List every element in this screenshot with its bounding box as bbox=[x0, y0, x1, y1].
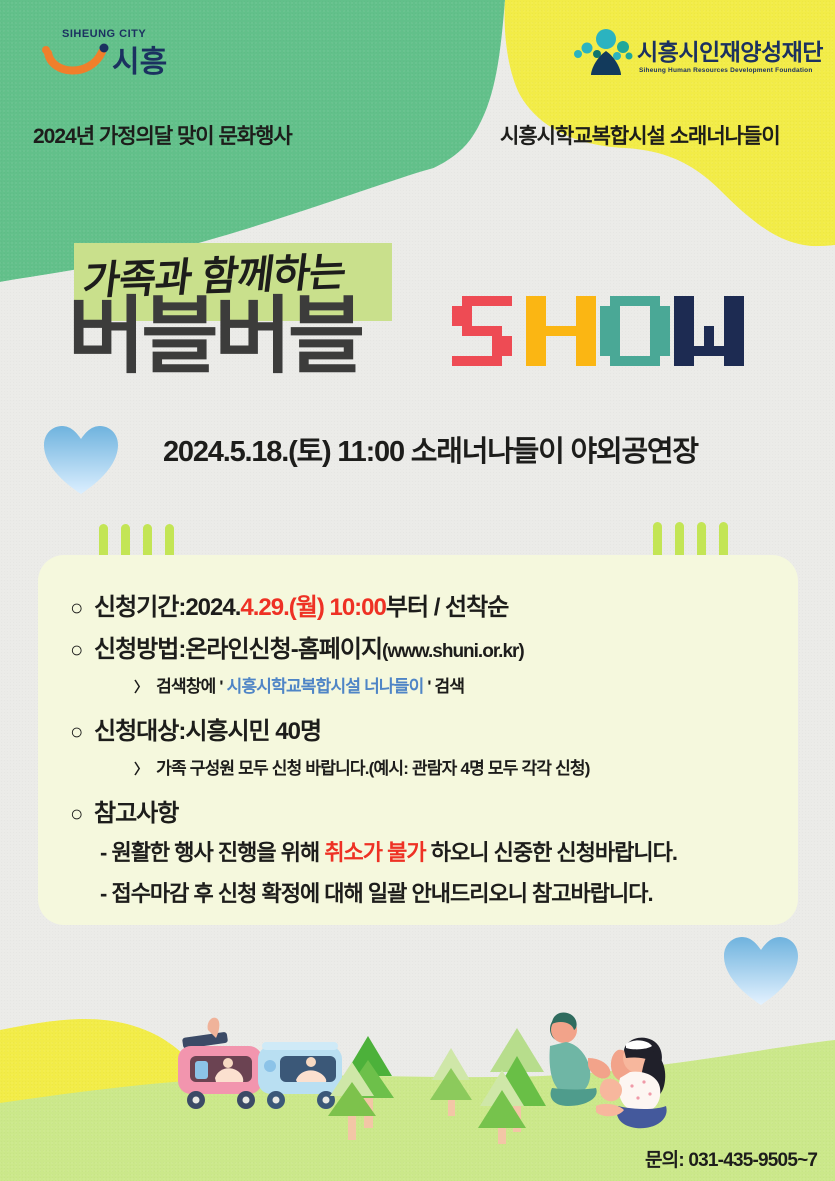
info-subrow-search: 〉 검색창에 ' 시흥시학교복합시설 너나들이 ' 검색 bbox=[52, 672, 784, 697]
info-row-notes: ○ 참고사항 bbox=[52, 793, 784, 828]
show-letter-h bbox=[526, 296, 596, 366]
title-main: 버블버블 bbox=[68, 294, 361, 378]
show-letter-o bbox=[600, 296, 670, 366]
poster-root: SIHEUNG CITY 시흥 시흥시인재양성재단 Siheung Human … bbox=[0, 0, 835, 1181]
heart-icon-left bbox=[42, 424, 120, 496]
search-hint-keyword: 시흥시학교복합시설 너나들이 bbox=[227, 677, 424, 696]
info-label-method: 신청방법: bbox=[94, 629, 185, 664]
foundation-ko-label: 시흥시인재양성재단 bbox=[637, 33, 823, 67]
siheung-city-ko-label: 시흥 bbox=[112, 46, 167, 79]
info-note-confirm: - 접수마감 후 신청 확정에 대해 일괄 안내드리오니 참고바랍니다. bbox=[52, 876, 784, 908]
bottom-illustration bbox=[0, 930, 835, 1181]
dash-icon: - bbox=[100, 840, 106, 865]
siheung-city-en-label: SIHEUNG CITY bbox=[62, 28, 146, 40]
header-left-caption: 2024년 가정의달 맞이 문화행사 bbox=[33, 120, 292, 150]
search-hint-before: 검색창에 ' bbox=[156, 677, 223, 696]
info-period-before: 2024. bbox=[185, 594, 240, 622]
info-label-notes: 참고사항 bbox=[94, 793, 178, 828]
bullet-icon: ○ bbox=[70, 637, 94, 663]
info-label-period: 신청기간: bbox=[94, 587, 185, 622]
info-row-target: ○ 신청대상: 시흥시민 40명 bbox=[52, 711, 784, 746]
chevron-right-icon: 〉 bbox=[134, 761, 147, 777]
tree-group bbox=[328, 1028, 546, 1144]
bullet-icon: ○ bbox=[70, 719, 94, 745]
show-letter-w bbox=[674, 296, 744, 366]
chevron-right-icon: 〉 bbox=[134, 679, 147, 695]
show-letter-s bbox=[452, 296, 522, 366]
dash-icon: - bbox=[100, 881, 106, 906]
contact-line: 문의: 031-435-9505~7 bbox=[645, 1145, 817, 1172]
search-hint-after: ' 검색 bbox=[427, 677, 464, 696]
info-list: ○ 신청기간: 2024. 4.29.(월) 10:00 부터 / 선착순 ○ … bbox=[52, 587, 784, 917]
foundation-en-label: Siheung Human Resources Development Foun… bbox=[639, 67, 813, 74]
info-method-url: (www.shuni.or.kr) bbox=[382, 641, 524, 663]
event-date-line: 2024.5.18.(토) 11:00 소래너나들이 야외공연장 bbox=[163, 428, 698, 470]
info-note-cancel: - 원활한 행사 진행을 위해 취소가 불가 하오니 신중한 신청바랍니다. bbox=[52, 835, 784, 867]
info-period-highlight: 4.29.(월) 10:00 bbox=[240, 587, 386, 622]
info-target-text: 시흥시민 40명 bbox=[185, 711, 321, 746]
siheung-hrd-foundation-logo: 시흥시인재양성재단 Siheung Human Resources Develo… bbox=[573, 27, 823, 83]
note-cancel-before: 원활한 행사 진행을 위해 bbox=[111, 840, 324, 865]
blue-food-truck bbox=[258, 1042, 342, 1109]
bullet-icon: ○ bbox=[70, 801, 94, 827]
siheung-city-logo: SIHEUNG CITY 시흥 bbox=[34, 28, 194, 88]
note-cancel-after: 하오니 신중한 신청바랍니다. bbox=[431, 840, 677, 865]
show-wordmark bbox=[452, 296, 744, 366]
person-seated-right bbox=[596, 1038, 667, 1129]
foundation-logo-mark bbox=[573, 27, 635, 79]
info-period-after: 부터 / 선착순 bbox=[386, 587, 508, 622]
pink-food-truck bbox=[178, 1018, 262, 1109]
family-note-text: 가족 구성원 모두 신청 바랍니다.(예시: 관람자 4명 모두 각각 신청) bbox=[156, 759, 589, 778]
info-label-target: 신청대상: bbox=[94, 711, 185, 746]
bullet-icon: ○ bbox=[70, 595, 94, 621]
info-method-text: 온라인신청-홈페이지 bbox=[185, 629, 382, 664]
info-row-method: ○ 신청방법: 온라인신청-홈페이지 (www.shuni.or.kr) bbox=[52, 629, 784, 664]
note-cancel-highlight: 취소가 불가 bbox=[324, 840, 425, 865]
info-card: ○ 신청기간: 2024. 4.29.(월) 10:00 부터 / 선착순 ○ … bbox=[38, 555, 798, 925]
note-confirm-text: 접수마감 후 신청 확정에 대해 일괄 안내드리오니 참고바랍니다. bbox=[111, 881, 652, 906]
header-right-caption: 시흥시학교복합시설 소래너나들이 bbox=[500, 120, 780, 150]
info-subrow-family: 〉 가족 구성원 모두 신청 바랍니다.(예시: 관람자 4명 모두 각각 신청… bbox=[52, 754, 784, 779]
info-row-period: ○ 신청기간: 2024. 4.29.(월) 10:00 부터 / 선착순 bbox=[52, 587, 784, 622]
